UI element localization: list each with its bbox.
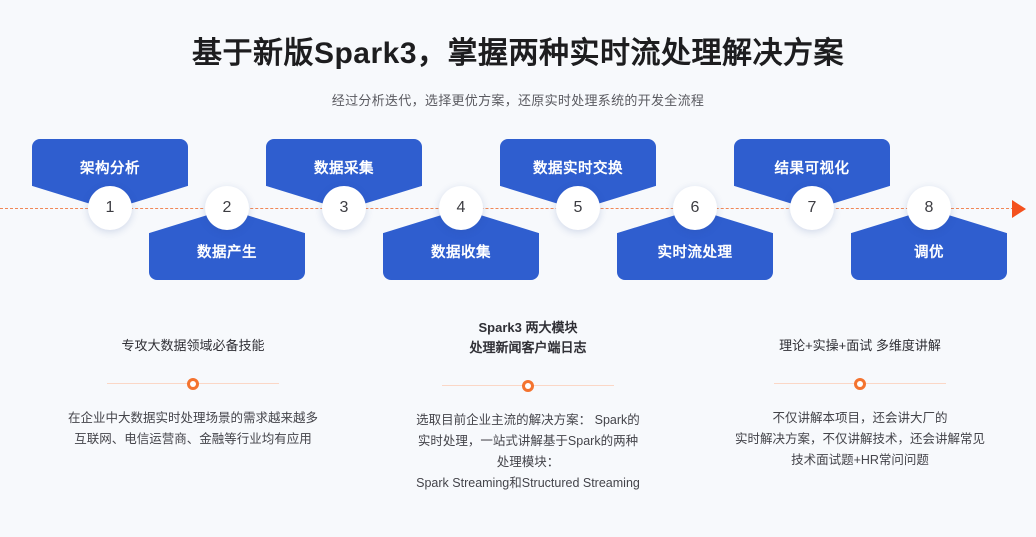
feature-divider-2 — [442, 380, 614, 392]
step-number-4[interactable]: 4 — [439, 186, 483, 230]
circle-dot-icon — [854, 378, 866, 390]
timeline-dashed-line — [0, 208, 1014, 209]
feature-body-1: 在企业中大数据实时处理场景的需求越来越多 互联网、电信运营商、金融等行业均有应用 — [43, 390, 343, 450]
process-timeline: 架构分析 1 数据产生 2 数据采集 3 数据收集 4 数据实时交换 5 实时流… — [0, 0, 1036, 300]
feature-columns: 专攻大数据领域必备技能 在企业中大数据实时处理场景的需求越来越多 互联网、电信运… — [0, 310, 1036, 510]
step-number-7[interactable]: 7 — [790, 186, 834, 230]
feature-body-3: 不仅讲解本项目，还会讲大厂的 实时解决方案，不仅讲解技术，还会讲解常见 技术面试… — [710, 390, 1010, 471]
feature-body-2: 选取目前企业主流的解决方案： Spark的 实时处理，一站式讲解基于Spark的… — [378, 392, 678, 494]
feature-column-2: Spark3 两大模块 处理新闻客户端日志 选取目前企业主流的解决方案： Spa… — [378, 310, 678, 494]
step-number-3[interactable]: 3 — [322, 186, 366, 230]
step-number-5[interactable]: 5 — [556, 186, 600, 230]
arrow-right-triangle-icon — [1012, 200, 1026, 218]
step-number-2[interactable]: 2 — [205, 186, 249, 230]
step-number-1[interactable]: 1 — [88, 186, 132, 230]
feature-column-3: 理论+实操+面试 多维度讲解 不仅讲解本项目，还会讲大厂的 实时解决方案，不仅讲… — [710, 310, 1010, 471]
feature-column-1: 专攻大数据领域必备技能 在企业中大数据实时处理场景的需求越来越多 互联网、电信运… — [43, 310, 343, 450]
feature-heading-2: Spark3 两大模块 处理新闻客户端日志 — [378, 310, 678, 358]
circle-dot-icon — [187, 378, 199, 390]
step-number-8[interactable]: 8 — [907, 186, 951, 230]
step-number-6[interactable]: 6 — [673, 186, 717, 230]
feature-divider-1 — [107, 378, 279, 390]
feature-heading-1: 专攻大数据领域必备技能 — [43, 310, 343, 356]
circle-dot-icon — [522, 380, 534, 392]
feature-heading-3: 理论+实操+面试 多维度讲解 — [710, 310, 1010, 356]
feature-divider-3 — [774, 378, 946, 390]
